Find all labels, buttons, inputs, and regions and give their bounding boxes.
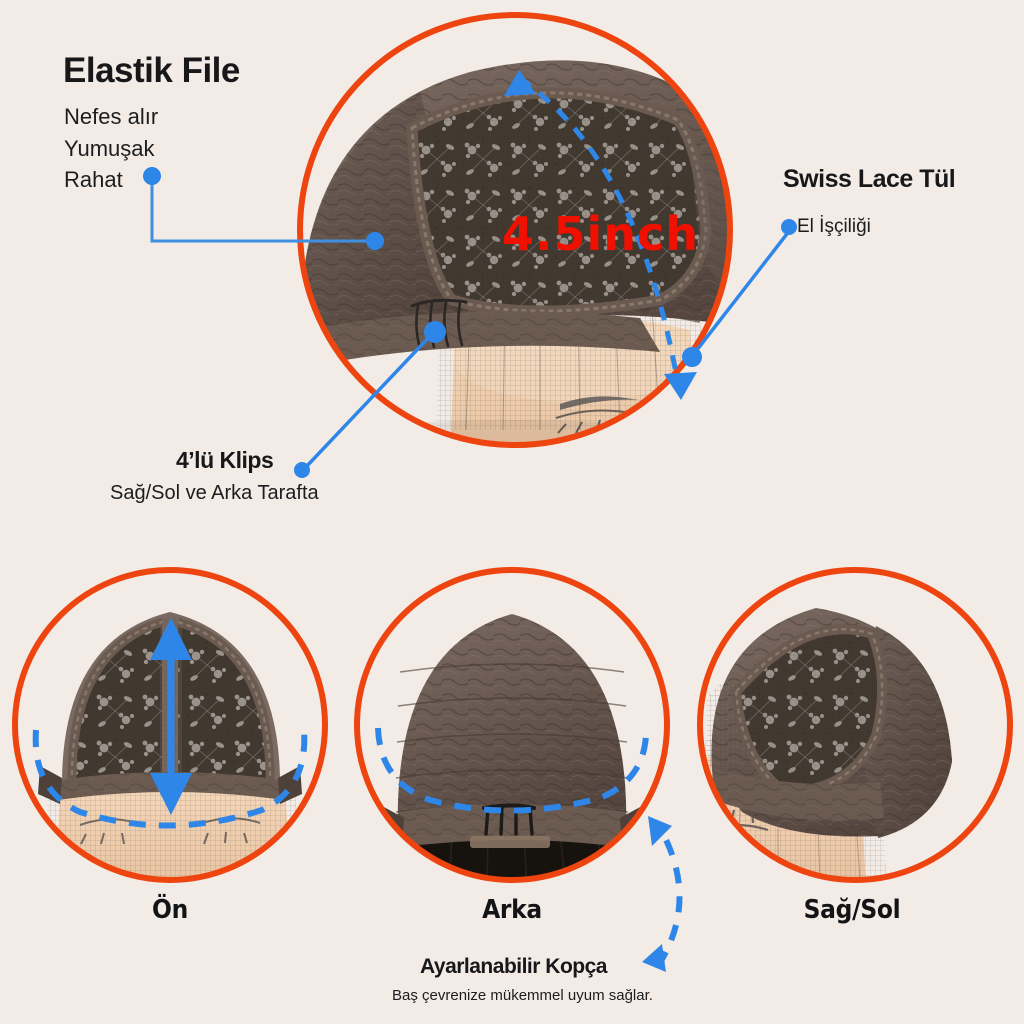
view-front-photo	[10, 565, 330, 890]
connector-elastik	[152, 180, 371, 241]
infographic-root: Elastik File Nefes alır Yumuşak Rahat Sw…	[0, 0, 1024, 1024]
view-side-ring	[700, 570, 1010, 880]
callout-line: Rahat	[64, 166, 158, 195]
connector-dot-klips-label	[294, 462, 310, 478]
view-side-photo	[695, 565, 1015, 890]
callout-line: Nefes alır	[64, 103, 158, 132]
view-back-circumference-dash	[378, 726, 646, 811]
kopca-arrow-head-label	[642, 944, 666, 972]
view-back-ring	[357, 570, 667, 880]
callout-title-elastik-file: Elastik File	[63, 53, 240, 90]
footer-title: Ayarlanabilir Kopça	[420, 956, 607, 978]
footer-subtitle: Baş çevrenize mükemmel uyum sağlar.	[392, 986, 653, 1006]
connector-klips	[305, 334, 432, 468]
callout-line: El İşçiliği	[797, 215, 871, 240]
measure-arrow-head-top	[504, 70, 536, 96]
measure-arrow-head-bottom	[664, 372, 697, 400]
connector-swiss	[693, 230, 790, 355]
view-back-photo	[352, 565, 672, 890]
callout-title-swiss-lace: Swiss Lace Tül	[783, 166, 955, 192]
callout-title-klips: 4’lü Klips	[176, 448, 273, 472]
view-caption-side: Sağ/Sol	[742, 895, 962, 925]
view-front-ring	[15, 570, 325, 880]
connector-dot-elastik-target	[366, 232, 384, 250]
arrow-head-down	[150, 773, 192, 815]
callout-lines-klips: Sağ/Sol ve Arka Tarafta	[110, 480, 319, 506]
hero-panel: Elastik File Nefes alır Yumuşak Rahat Sw…	[0, 0, 1024, 530]
callout-lines-swiss-lace: El İşçiliği	[797, 215, 871, 240]
measurement-label: 4.5inch	[502, 207, 699, 261]
view-caption-front: Ön	[60, 895, 280, 925]
kopca-arrow-head	[648, 816, 672, 846]
kopca-pointer-dash	[658, 828, 680, 966]
view-front-hairline-dash	[36, 730, 305, 826]
callout-lines-elastik-file: Nefes alır Yumuşak Rahat	[64, 103, 158, 198]
callout-line: Sağ/Sol ve Arka Tarafta	[110, 480, 319, 506]
callout-line: Yumuşak	[64, 135, 158, 164]
connector-dot-swiss-label	[781, 219, 797, 235]
view-caption-back: Arka	[402, 895, 622, 925]
connector-dot-klips-target	[424, 321, 446, 343]
connector-dot-swiss-target	[682, 347, 702, 367]
arrow-head-up	[150, 618, 192, 660]
